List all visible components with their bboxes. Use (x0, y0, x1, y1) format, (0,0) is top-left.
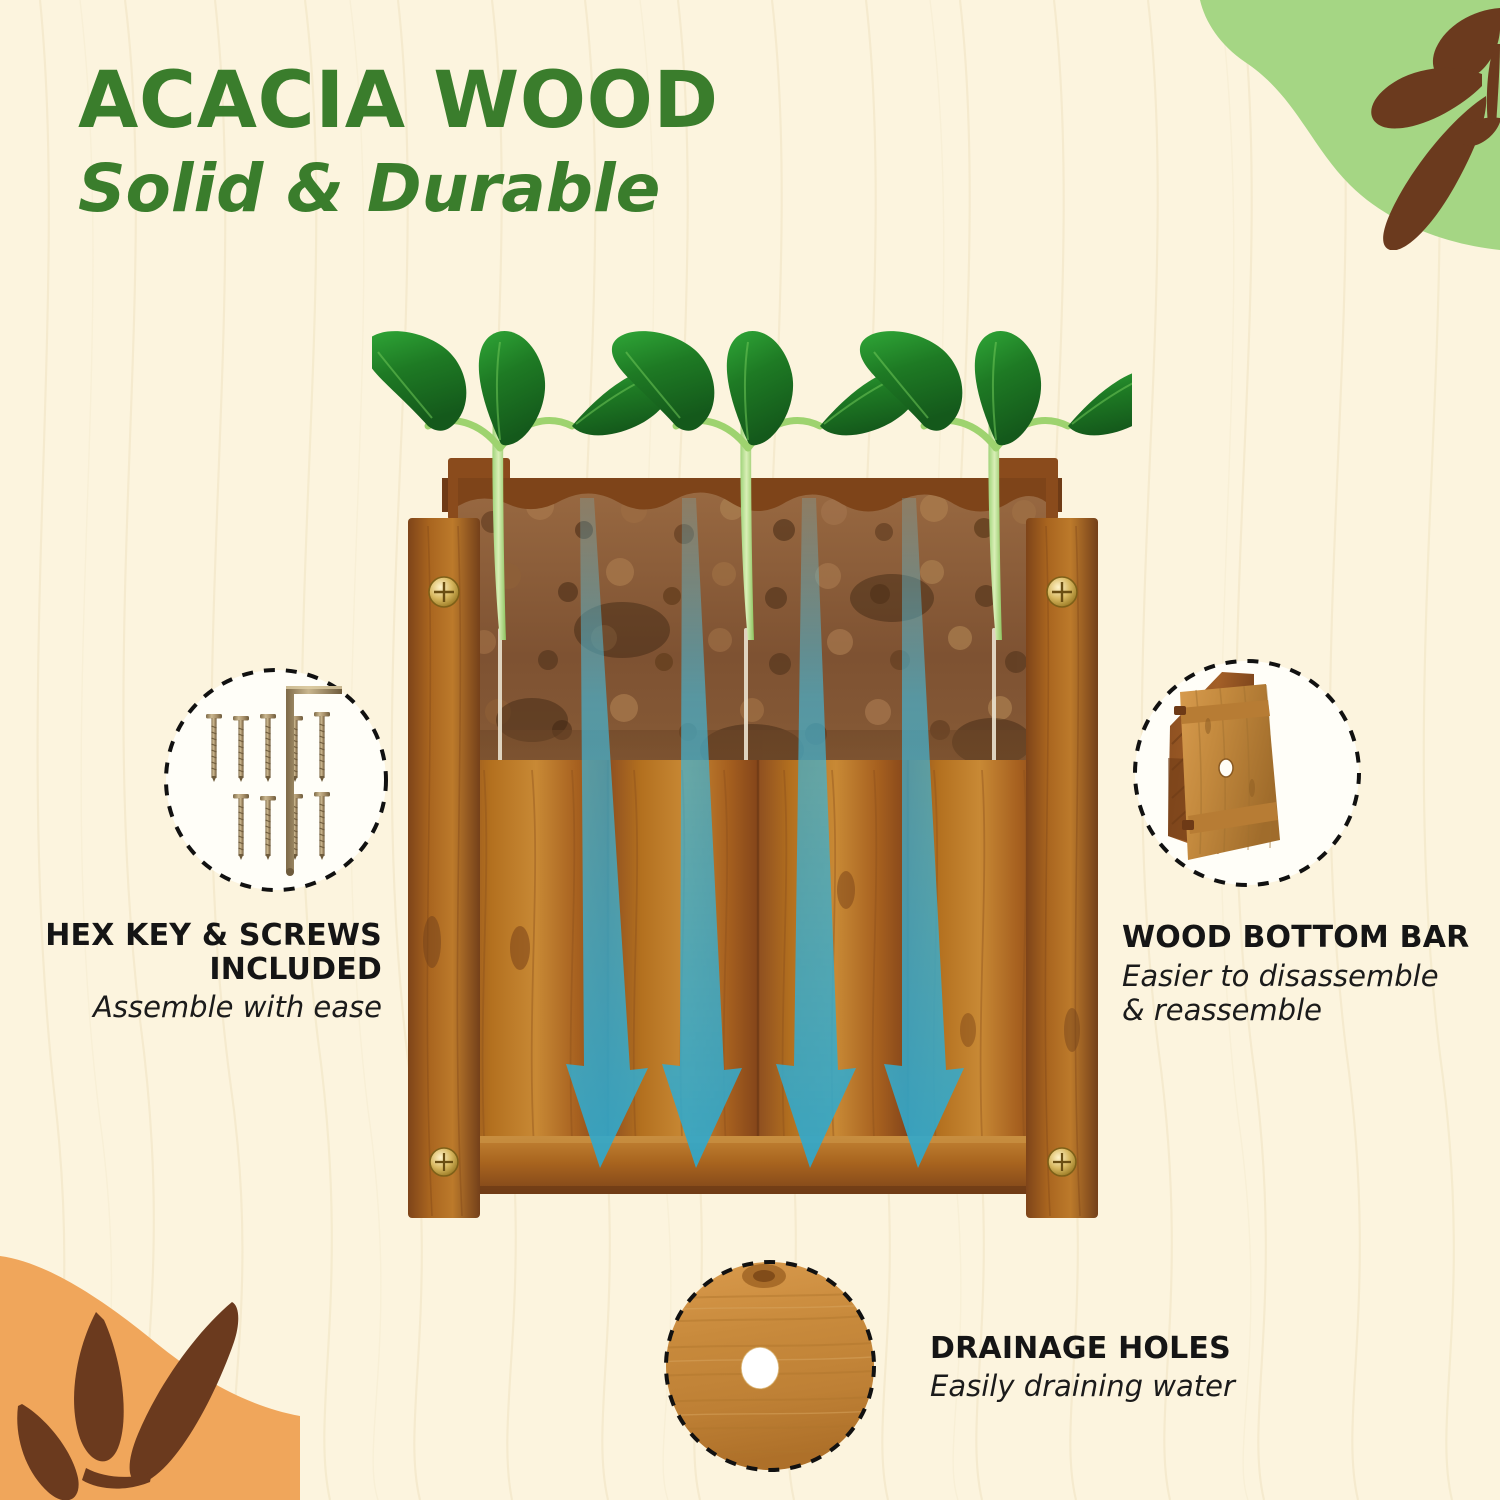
planter-slats (458, 760, 1046, 1180)
feature-title: HEX KEY & SCREWS INCLUDED (16, 919, 382, 986)
feature-subtitle: Easily draining water (930, 1369, 1235, 1404)
page-subtitle: Solid & Durable (78, 156, 719, 222)
wood-bottom-bar-icon (1122, 648, 1372, 898)
drainage-hole-icon (652, 1248, 888, 1484)
feature-title: WOOD BOTTOM BAR (1122, 921, 1494, 955)
feature-caption: WOOD BOTTOM BAR Easier to disassemble & … (1122, 921, 1494, 1028)
screws-and-hex-key-icon (156, 660, 396, 900)
infographic-canvas: ACACIA WOOD Solid & Durable (0, 0, 1500, 1500)
page-title: ACACIA WOOD (78, 62, 719, 140)
feature-wood-bottom-bar: WOOD BOTTOM BAR Easier to disassemble & … (1122, 648, 1494, 1028)
feature-hex-key-screws: HEX KEY & SCREWS INCLUDED Assemble with … (16, 660, 396, 1025)
feature-caption: DRAINAGE HOLES Easily draining water (930, 1328, 1235, 1404)
feature-caption: HEX KEY & SCREWS INCLUDED Assemble with … (16, 919, 396, 1025)
headline-block: ACACIA WOOD Solid & Durable (78, 62, 719, 222)
feature-title: DRAINAGE HOLES (930, 1332, 1235, 1366)
feature-drainage-holes: DRAINAGE HOLES Easily draining water (652, 1248, 1452, 1484)
feature-subtitle: Easier to disassemble & reassemble (1122, 959, 1494, 1029)
feature-subtitle: Assemble with ease (16, 990, 382, 1025)
product-planter-image (372, 330, 1132, 1240)
wood-bottom-bar (458, 1136, 1046, 1194)
